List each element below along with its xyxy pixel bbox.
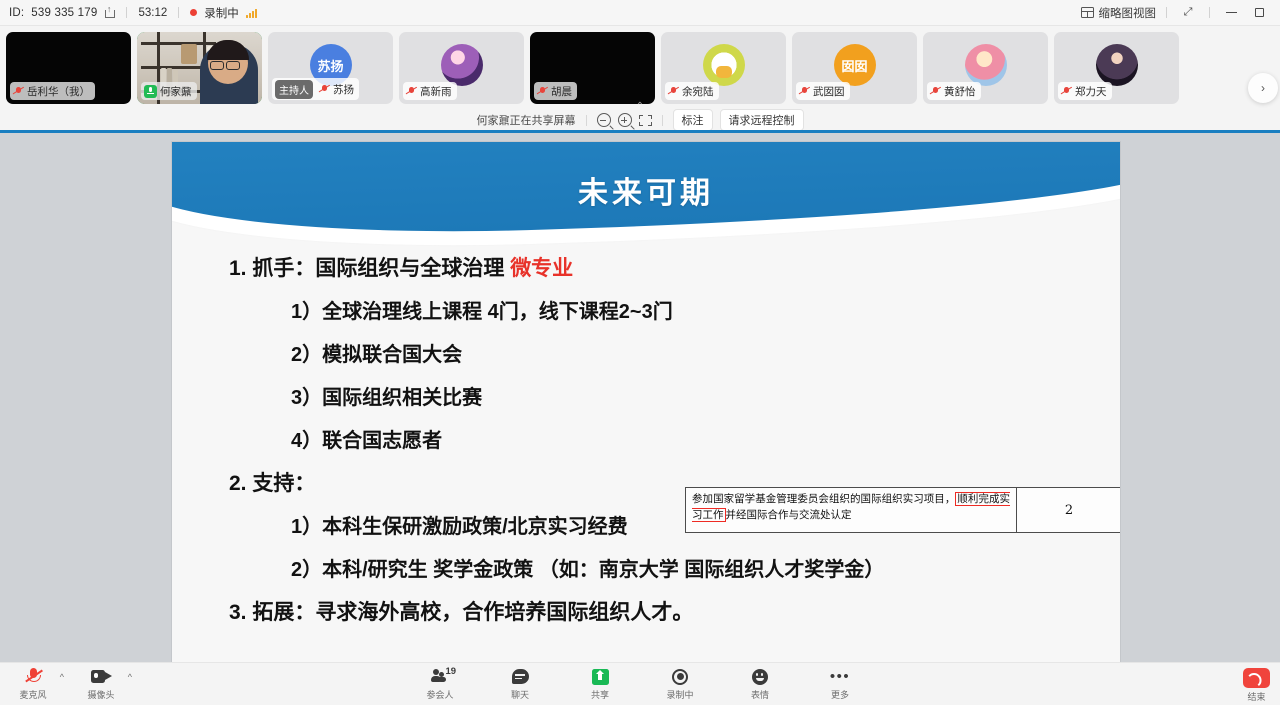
meeting-id-label: ID: (9, 7, 24, 19)
mic-muted-icon (799, 86, 810, 97)
participant-thumbnail[interactable]: 高新雨 (399, 32, 524, 104)
zoom-in-icon[interactable] (618, 113, 632, 127)
slide-line: 2）本科/研究生 奖学金政策 （如：南京大学 国际组织人才奖学金） (291, 553, 1120, 582)
thumbnail-view-button[interactable]: 缩略图视图 (1081, 5, 1157, 21)
slide-line-highlight: 微专业 (510, 257, 573, 280)
mic-muted-icon (1061, 86, 1072, 97)
slide-title: 未来可期 (172, 168, 1120, 212)
embedded-table: 参加国家留学基金管理委员会组织的国际组织实习项目，顺利完成实习工作并经国际合作与… (685, 487, 1120, 533)
bottom-left-controls: 麦克风 ^ 摄像头 ^ (10, 667, 124, 701)
expand-icon: ⤢ (1183, 7, 1194, 18)
camera-label: 摄像头 (87, 688, 114, 701)
chat-icon (512, 669, 529, 684)
participant-thumbnail[interactable]: 苏扬 主持人 苏扬 (268, 32, 393, 104)
recording-button[interactable]: 录制中 (657, 667, 703, 701)
participant-nameplate: 武囡囡 (796, 82, 850, 100)
end-meeting-button[interactable]: 结束 (1243, 668, 1270, 703)
share-screen-button[interactable]: 共享 (577, 667, 623, 701)
emoji-icon (752, 669, 768, 685)
avatar (441, 44, 483, 86)
avatar (965, 44, 1007, 86)
share-status-label: 何家鼐正在共享屏幕 (477, 112, 576, 128)
signal-strength-icon (246, 8, 257, 18)
slide-line: 3）国际组织相关比赛 (291, 381, 1120, 410)
participant-filmstrip[interactable]: 岳利华（我） (0, 26, 1280, 110)
share-toolbar: 何家鼐正在共享屏幕 标注 请求远程控制 (0, 110, 1280, 130)
chat-label: 聊天 (511, 688, 529, 701)
recording-dot-icon (190, 9, 197, 16)
table-cell-description: 参加国家留学基金管理委员会组织的国际组织实习项目，顺利完成实习工作并经国际合作与… (686, 488, 1017, 532)
participant-name: 高新雨 (420, 84, 452, 99)
meeting-id-value: 539 335 179 (31, 7, 97, 19)
divider (662, 115, 663, 126)
divider (1209, 7, 1210, 18)
participant-nameplate: 高新雨 (403, 82, 457, 100)
annotate-button[interactable]: 标注 (673, 109, 713, 131)
share-screen-icon (592, 669, 609, 685)
table-text-after: 并经国际合作与交流处认定 (726, 509, 852, 521)
request-remote-control-button[interactable]: 请求远程控制 (720, 109, 804, 131)
divider (178, 7, 179, 18)
fit-to-screen-icon[interactable] (639, 115, 652, 126)
minimize-button[interactable] (1220, 4, 1242, 22)
participant-name: 郑力天 (1075, 84, 1107, 99)
participants-button[interactable]: 19 参会人 (417, 667, 463, 701)
participant-thumbnail[interactable]: 黄舒怡 (923, 32, 1048, 104)
avatar-initials: 苏扬 (317, 56, 343, 75)
participant-nameplate: 岳利华（我） (10, 82, 95, 100)
camera-button[interactable]: 摄像头 ^ (78, 667, 124, 701)
maximize-icon (1255, 8, 1264, 17)
table-cell-value: 2 (1017, 488, 1120, 532)
end-meeting-label: 结束 (1247, 690, 1265, 703)
participant-name: 岳利华（我） (27, 84, 90, 99)
participant-name: 苏扬 (333, 82, 354, 97)
recording-label: 录制中 (666, 688, 693, 701)
camera-icon (91, 670, 112, 683)
grid-icon (1081, 7, 1094, 18)
participant-thumbnail[interactable]: 岳利华（我） (6, 32, 131, 104)
participant-thumbnail[interactable]: 余宛陆 (661, 32, 786, 104)
slide-body: 1. 抓手：国际组织与全球治理 微专业 1）全球治理线上课程 4门，线下课程2~… (172, 252, 1120, 639)
shared-screen-stage: 未来可期 1. 抓手：国际组织与全球治理 微专业 1）全球治理线上课程 4门，线… (0, 130, 1280, 662)
participant-name: 胡晨 (551, 84, 572, 99)
participant-name: 何家鼐 (160, 84, 192, 99)
mic-muted-icon (930, 86, 941, 97)
divider (586, 115, 587, 126)
participant-thumbnail[interactable]: 郑力天 (1054, 32, 1179, 104)
more-icon: ••• (830, 670, 850, 684)
emoji-button[interactable]: 表情 (737, 667, 783, 701)
participants-icon: 19 (431, 669, 450, 684)
participant-nameplate: 何家鼐 (141, 82, 197, 100)
avatar: 囡囡 (834, 44, 876, 86)
meeting-timer: 53:12 (138, 7, 167, 19)
participant-nameplate: 胡晨 (534, 82, 577, 100)
mic-muted-icon (537, 86, 548, 97)
maximize-button[interactable] (1248, 4, 1270, 22)
host-badge: 主持人 (275, 80, 313, 99)
slide-line-text: 1. 抓手：国际组织与全球治理 (229, 257, 510, 280)
top-bar-left: ID: 539 335 179 53:12 录制中 (0, 5, 257, 21)
meeting-window: ID: 539 335 179 53:12 录制中 缩略图视图 ⤢ (0, 0, 1280, 705)
hangup-icon (1243, 668, 1270, 688)
participant-name: 余宛陆 (682, 84, 714, 99)
zoom-out-icon[interactable] (597, 113, 611, 127)
bottom-center-controls: 19 参会人 聊天 共享 录制中 表情 ••• 更多 (417, 667, 863, 701)
top-bar-right: 缩略图视图 ⤢ (1081, 4, 1280, 22)
emoji-label: 表情 (751, 688, 769, 701)
chevron-up-icon[interactable]: ^ (60, 672, 64, 682)
divider (1166, 7, 1167, 18)
chat-button[interactable]: 聊天 (497, 667, 543, 701)
participant-thumbnail-active[interactable]: 何家鼐 (137, 32, 262, 104)
bottom-toolbar: 麦克风 ^ 摄像头 ^ 19 参会人 聊天 (0, 662, 1280, 705)
chevron-up-icon[interactable]: ^ (128, 672, 132, 682)
avatar (703, 44, 745, 86)
participant-nameplate: 黄舒怡 (927, 82, 981, 100)
speaker-face (200, 44, 258, 104)
mic-muted-icon (13, 86, 24, 97)
slide-line: 4）联合国志愿者 (291, 424, 1120, 453)
divider (126, 7, 127, 18)
table-text-before: 参加国家留学基金管理委员会组织的国际组织实习项目， (692, 493, 955, 505)
mic-active-icon (144, 85, 157, 98)
microphone-button[interactable]: 麦克风 ^ (10, 667, 56, 701)
mic-muted-icon (319, 84, 330, 95)
participants-count: 19 (446, 666, 457, 677)
participant-nameplate: 余宛陆 (665, 82, 719, 100)
recording-status-label: 录制中 (204, 5, 239, 21)
participant-nameplate: 郑力天 (1058, 82, 1112, 100)
participant-name: 武囡囡 (813, 84, 845, 99)
participant-thumbnail[interactable]: 胡晨 (530, 32, 655, 104)
participant-name: 黄舒怡 (944, 84, 976, 99)
thumbnail-view-label: 缩略图视图 (1099, 5, 1157, 21)
top-bar: ID: 539 335 179 53:12 录制中 缩略图视图 ⤢ (0, 0, 1280, 26)
participant-nameplate: 主持人 苏扬 (272, 78, 359, 100)
avatar-initials: 囡囡 (841, 56, 867, 75)
fullscreen-button[interactable]: ⤢ (1177, 4, 1199, 22)
shared-slide: 未来可期 1. 抓手：国际组织与全球治理 微专业 1）全球治理线上课程 4门，线… (172, 142, 1120, 670)
slide-line: 1. 抓手：国际组织与全球治理 微专业 (229, 252, 1120, 282)
slide-line: 2）模拟联合国大会 (291, 338, 1120, 367)
share-id-icon[interactable] (104, 7, 115, 18)
mic-muted-icon (406, 86, 417, 97)
avatar (1096, 44, 1138, 86)
participants-label: 参会人 (426, 688, 453, 701)
minimize-icon (1226, 12, 1237, 13)
more-button[interactable]: ••• 更多 (817, 667, 863, 701)
share-label: 共享 (591, 688, 609, 701)
filmstrip-scroll-right-button[interactable]: › (1248, 73, 1278, 103)
microphone-label: 麦克风 (19, 688, 46, 701)
chevron-right-icon: › (1261, 81, 1265, 95)
more-label: 更多 (831, 688, 849, 701)
slide-line: 3. 拓展：寻求海外高校，合作培养国际组织人才。 (229, 596, 1120, 626)
microphone-muted-icon (26, 667, 41, 686)
recording-icon (672, 669, 688, 685)
participant-thumbnail[interactable]: 囡囡 武囡囡 (792, 32, 917, 104)
mic-muted-icon (668, 86, 679, 97)
slide-line: 1）全球治理线上课程 4门，线下课程2~3门 (291, 295, 1120, 324)
